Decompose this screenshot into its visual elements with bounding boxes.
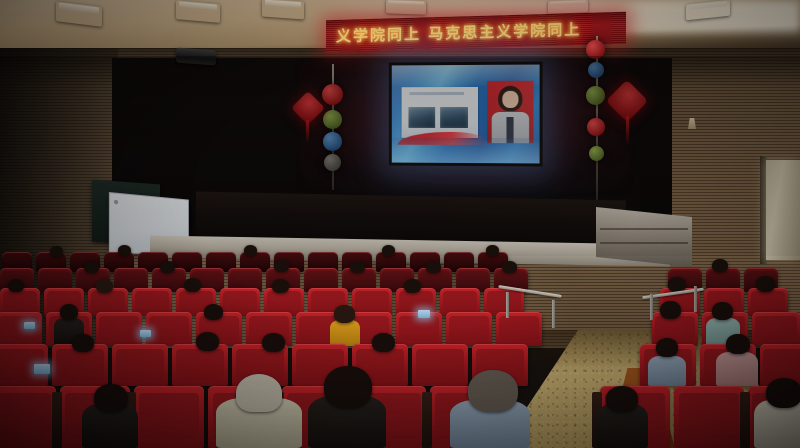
audience-head xyxy=(606,386,638,412)
seat[interactable] xyxy=(674,386,744,448)
seat[interactable] xyxy=(496,312,542,346)
seat[interactable] xyxy=(146,312,192,346)
audience-head xyxy=(756,276,775,292)
handrail-post xyxy=(552,300,555,328)
audience-head xyxy=(204,304,223,320)
audience-head xyxy=(502,261,517,273)
audience-torso xyxy=(330,320,360,346)
seat[interactable] xyxy=(96,312,142,346)
handrail-post xyxy=(694,286,697,312)
audience-head xyxy=(350,261,365,273)
audience-head xyxy=(8,279,24,292)
audience-head xyxy=(468,370,518,412)
audience-head xyxy=(486,245,499,256)
audience-torso xyxy=(648,356,686,386)
seat-armrest xyxy=(52,392,62,448)
seat[interactable] xyxy=(134,386,204,448)
audience-head xyxy=(660,301,681,319)
audience-head xyxy=(50,246,63,257)
audience-head xyxy=(426,261,441,273)
audience-head xyxy=(324,366,372,408)
audience-head xyxy=(372,333,395,352)
audience-head xyxy=(712,302,733,320)
audience-head xyxy=(94,384,128,412)
audience-head xyxy=(84,261,99,273)
seat-armrest xyxy=(422,392,432,448)
audience-head xyxy=(272,279,289,293)
seat[interactable] xyxy=(752,312,800,346)
audience-head xyxy=(726,334,750,354)
phone-screen xyxy=(34,364,50,374)
auditorium-seating xyxy=(0,0,800,448)
audience-head xyxy=(160,261,175,273)
audience-head xyxy=(72,334,94,352)
seat[interactable] xyxy=(0,386,56,448)
audience-head xyxy=(404,279,421,293)
seat[interactable] xyxy=(172,344,228,386)
audience-head xyxy=(244,245,257,256)
audience-head xyxy=(334,305,355,323)
seat[interactable] xyxy=(446,312,492,346)
audience-head xyxy=(196,332,219,351)
seat[interactable] xyxy=(412,344,468,386)
phone-screen xyxy=(140,330,151,337)
lecture-hall-photo: 义学院同上 马克思主义学院同上 xyxy=(0,0,800,448)
phone-screen xyxy=(418,310,430,318)
audience-head xyxy=(382,245,395,256)
audience-head xyxy=(712,259,728,272)
audience-head xyxy=(766,378,800,408)
audience-head xyxy=(184,278,201,292)
handrail-post xyxy=(650,294,653,320)
audience-head xyxy=(656,338,678,357)
audience-head xyxy=(60,304,78,320)
phone-screen xyxy=(24,322,35,329)
seat[interactable] xyxy=(112,344,168,386)
audience-head xyxy=(262,333,285,352)
seat-armrest xyxy=(740,392,750,448)
audience-head xyxy=(274,260,289,272)
handrail-post xyxy=(506,292,509,318)
audience-head xyxy=(236,374,282,412)
seat[interactable] xyxy=(0,312,42,346)
audience-torso xyxy=(716,352,758,386)
audience-head xyxy=(118,245,131,256)
audience-head xyxy=(96,279,113,293)
